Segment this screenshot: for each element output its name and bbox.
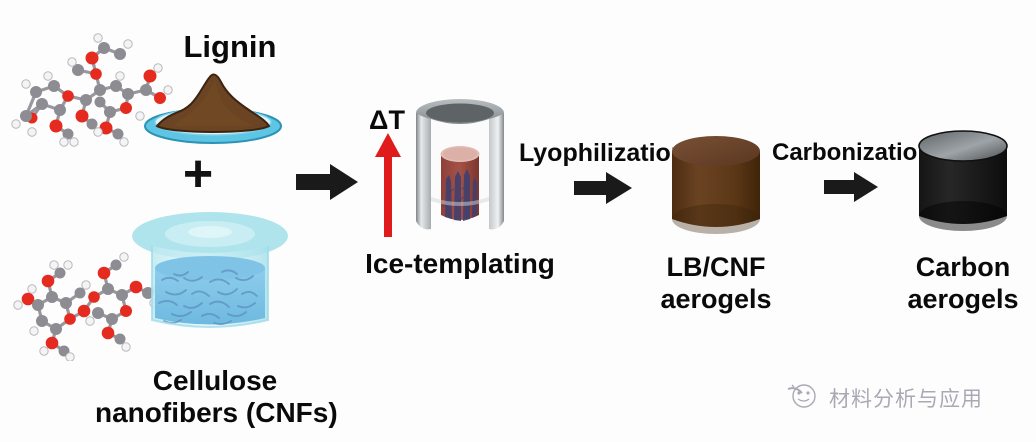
cnf-beaker-icon: [128, 208, 293, 343]
ice-templating-label: Ice-templating: [350, 248, 570, 279]
watermark: 材料分析与应用: [786, 381, 983, 414]
lignin-powder-dish-icon: [143, 68, 283, 146]
lb-cnf-label-line1: LB/CNF: [641, 252, 791, 282]
figure-canvas: Lignin +: [0, 0, 1036, 442]
carbon-aerogel-cylinder-icon: [915, 128, 1011, 236]
carbonization-label: Carbonization: [772, 140, 922, 167]
arrow-to-ice-templating-icon: [294, 162, 360, 202]
ice-templating-mold-icon: [405, 97, 515, 242]
lignin-label: Lignin: [160, 30, 300, 65]
lyophilization-arrow-icon: [572, 170, 634, 206]
lyophilization-label: Lyophilization: [515, 139, 690, 167]
carbon-label-line1: Carbon: [888, 252, 1036, 282]
lb-cnf-aerogel-cylinder-icon: [668, 133, 764, 239]
watermark-logo-icon: [786, 381, 820, 414]
carbonization-arrow-icon: [822, 170, 880, 204]
cellulose-label-line2: nanofibers (CNFs): [95, 397, 335, 428]
lb-cnf-label-line2: aerogels: [641, 284, 791, 314]
carbon-label-line2: aerogels: [888, 284, 1036, 314]
watermark-text: 材料分析与应用: [829, 383, 983, 413]
cellulose-label-line1: Cellulose: [115, 365, 315, 396]
plus-sign: +: [178, 148, 218, 200]
thermal-gradient-arrow-icon: [372, 131, 404, 239]
